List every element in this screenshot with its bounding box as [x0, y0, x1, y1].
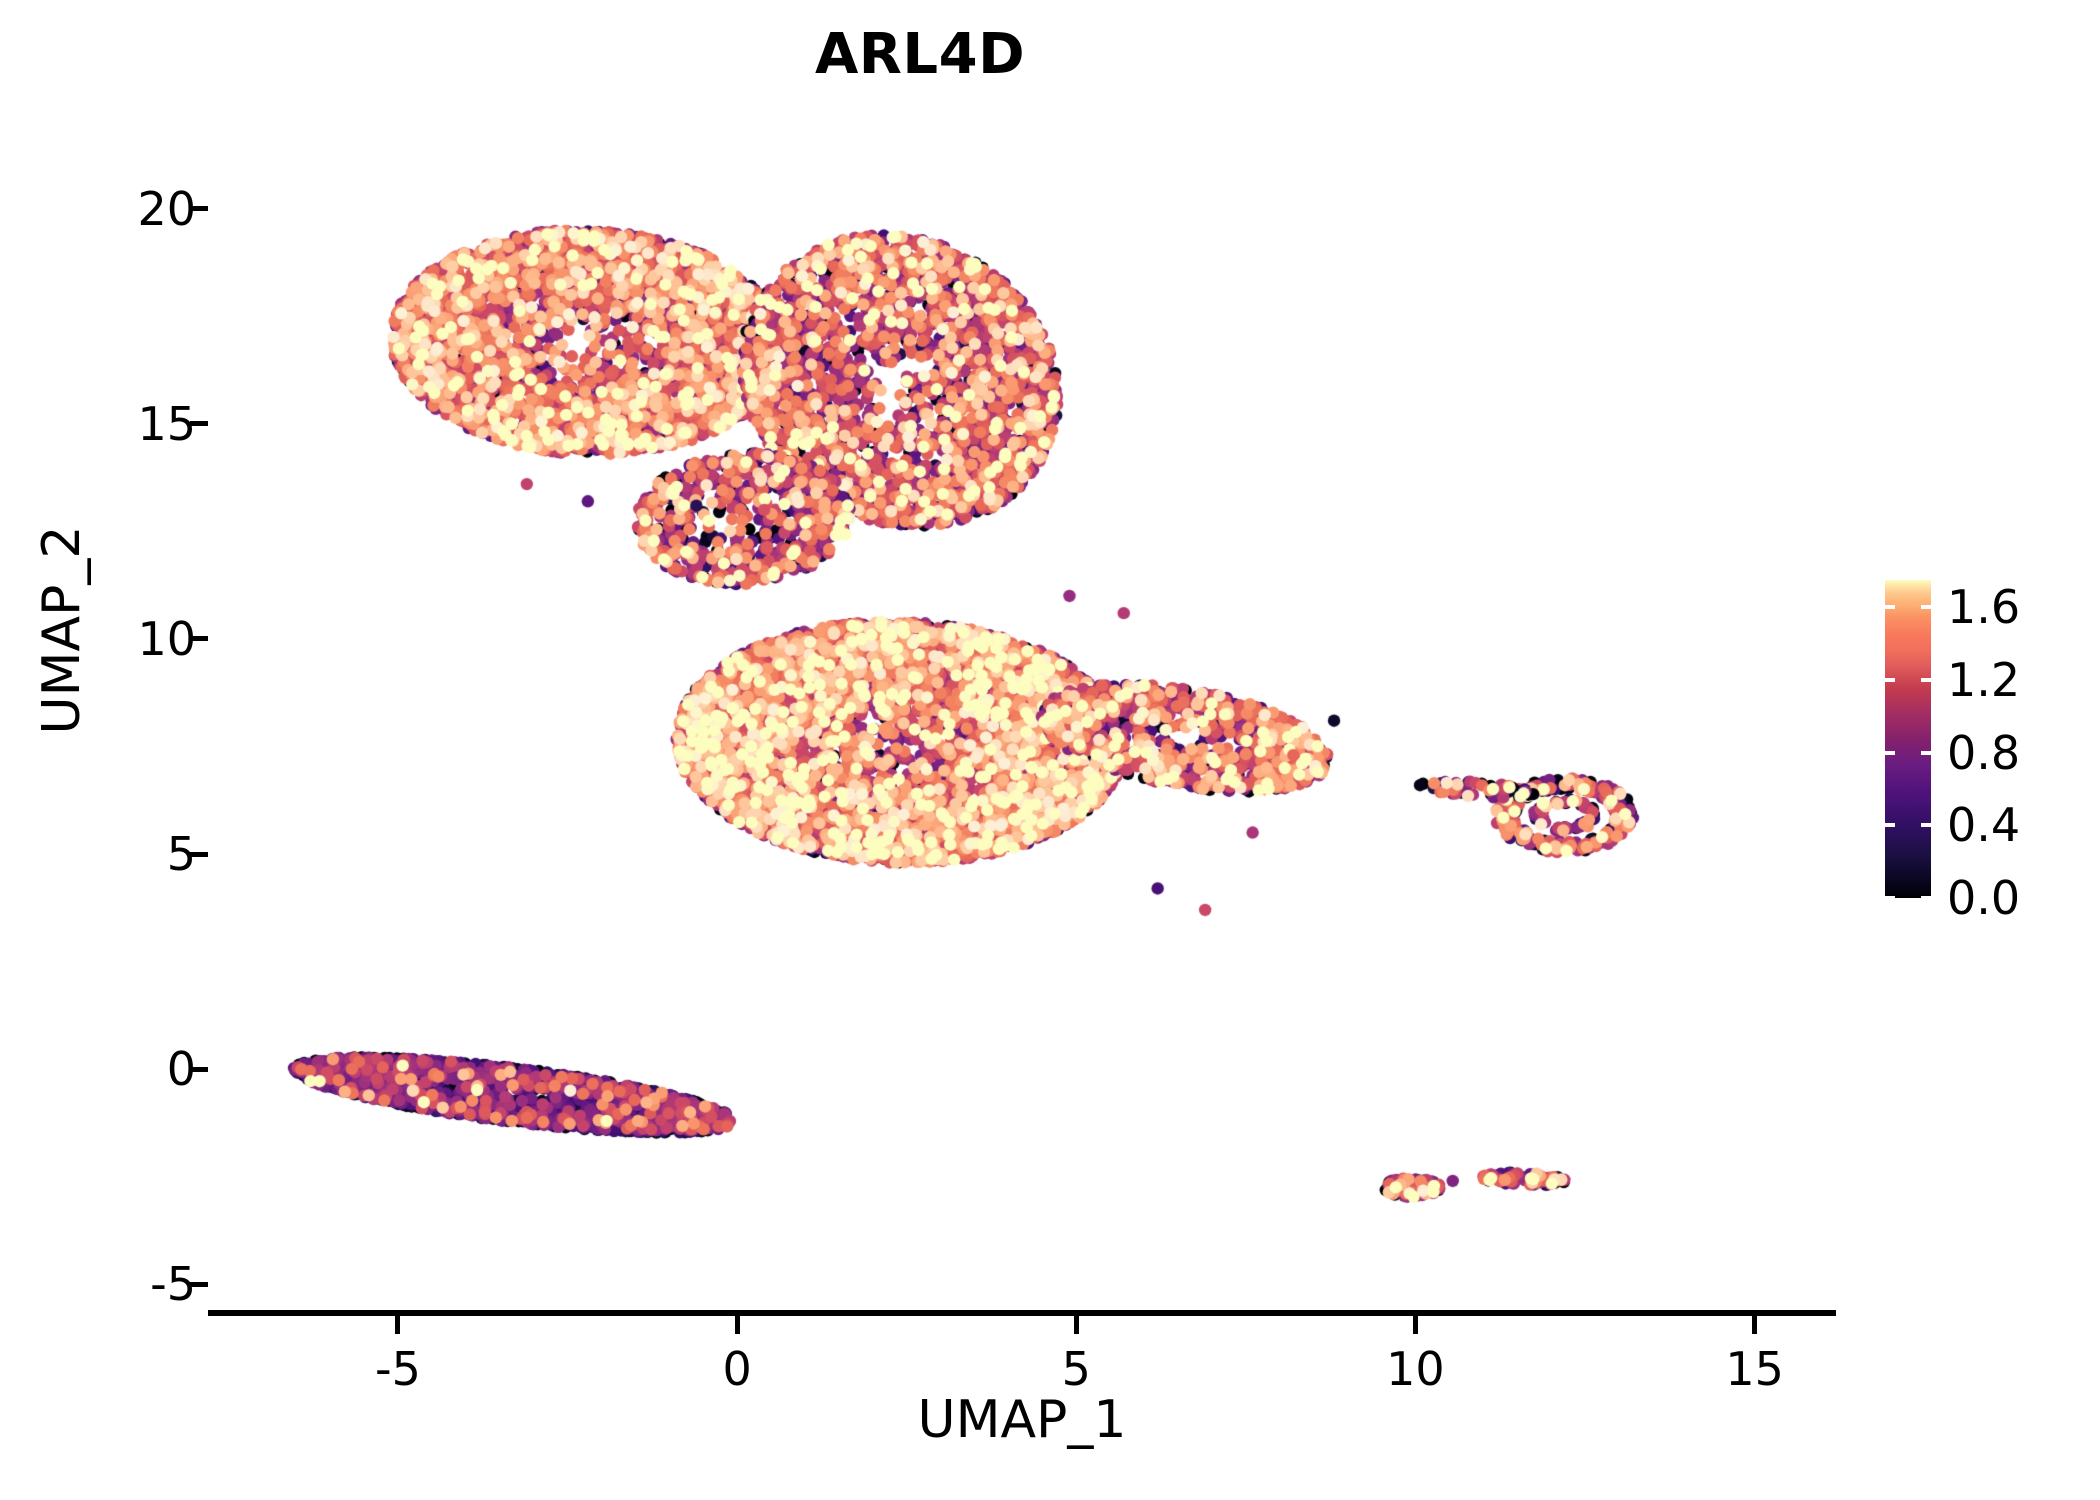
colorbar-tick-label: 1.2: [1947, 653, 2020, 707]
x-axis-label: UMAP_1: [208, 1390, 1836, 1450]
umap-feature-plot: ARL4D -505101520 -5051015 UMAP_1 UMAP_2 …: [0, 0, 2100, 1500]
page-title: ARL4D: [0, 22, 1840, 87]
y-tick-label: 15: [137, 397, 196, 451]
x-tick-label: -5: [375, 1342, 421, 1396]
x-tick-mark: [1752, 1316, 1757, 1334]
colorbar-tick-label: 0.8: [1947, 726, 2020, 780]
colorbar-tick-label: 0.0: [1947, 871, 2020, 925]
x-tick-label: 0: [722, 1342, 751, 1396]
y-axis-label: UMAP_2: [32, 250, 92, 1010]
x-tick-label: 15: [1725, 1342, 1784, 1396]
colorbar-tick-label: 1.6: [1947, 580, 2020, 634]
x-tick-mark: [1413, 1316, 1418, 1334]
scatter-plot-canvas: [208, 140, 1836, 1310]
x-tick-mark: [1074, 1316, 1079, 1334]
colorbar-tick-label: 0.4: [1947, 798, 2020, 852]
x-tick-mark: [395, 1316, 400, 1334]
x-tick-label: 10: [1386, 1342, 1445, 1396]
colorbar: 0.00.40.81.21.6: [1885, 580, 2095, 900]
x-axis-spine: [208, 1310, 1836, 1316]
x-tick-mark: [735, 1316, 740, 1334]
y-tick-label: 20: [137, 182, 196, 236]
y-tick-label: 0: [167, 1042, 196, 1096]
y-tick-label: -5: [150, 1257, 196, 1311]
x-tick-label: 5: [1062, 1342, 1091, 1396]
colorbar-gradient: [1885, 580, 1931, 898]
y-tick-label: 10: [137, 612, 196, 666]
y-tick-label: 5: [167, 827, 196, 881]
plot-axes: -505101520 -5051015: [208, 140, 1836, 1310]
